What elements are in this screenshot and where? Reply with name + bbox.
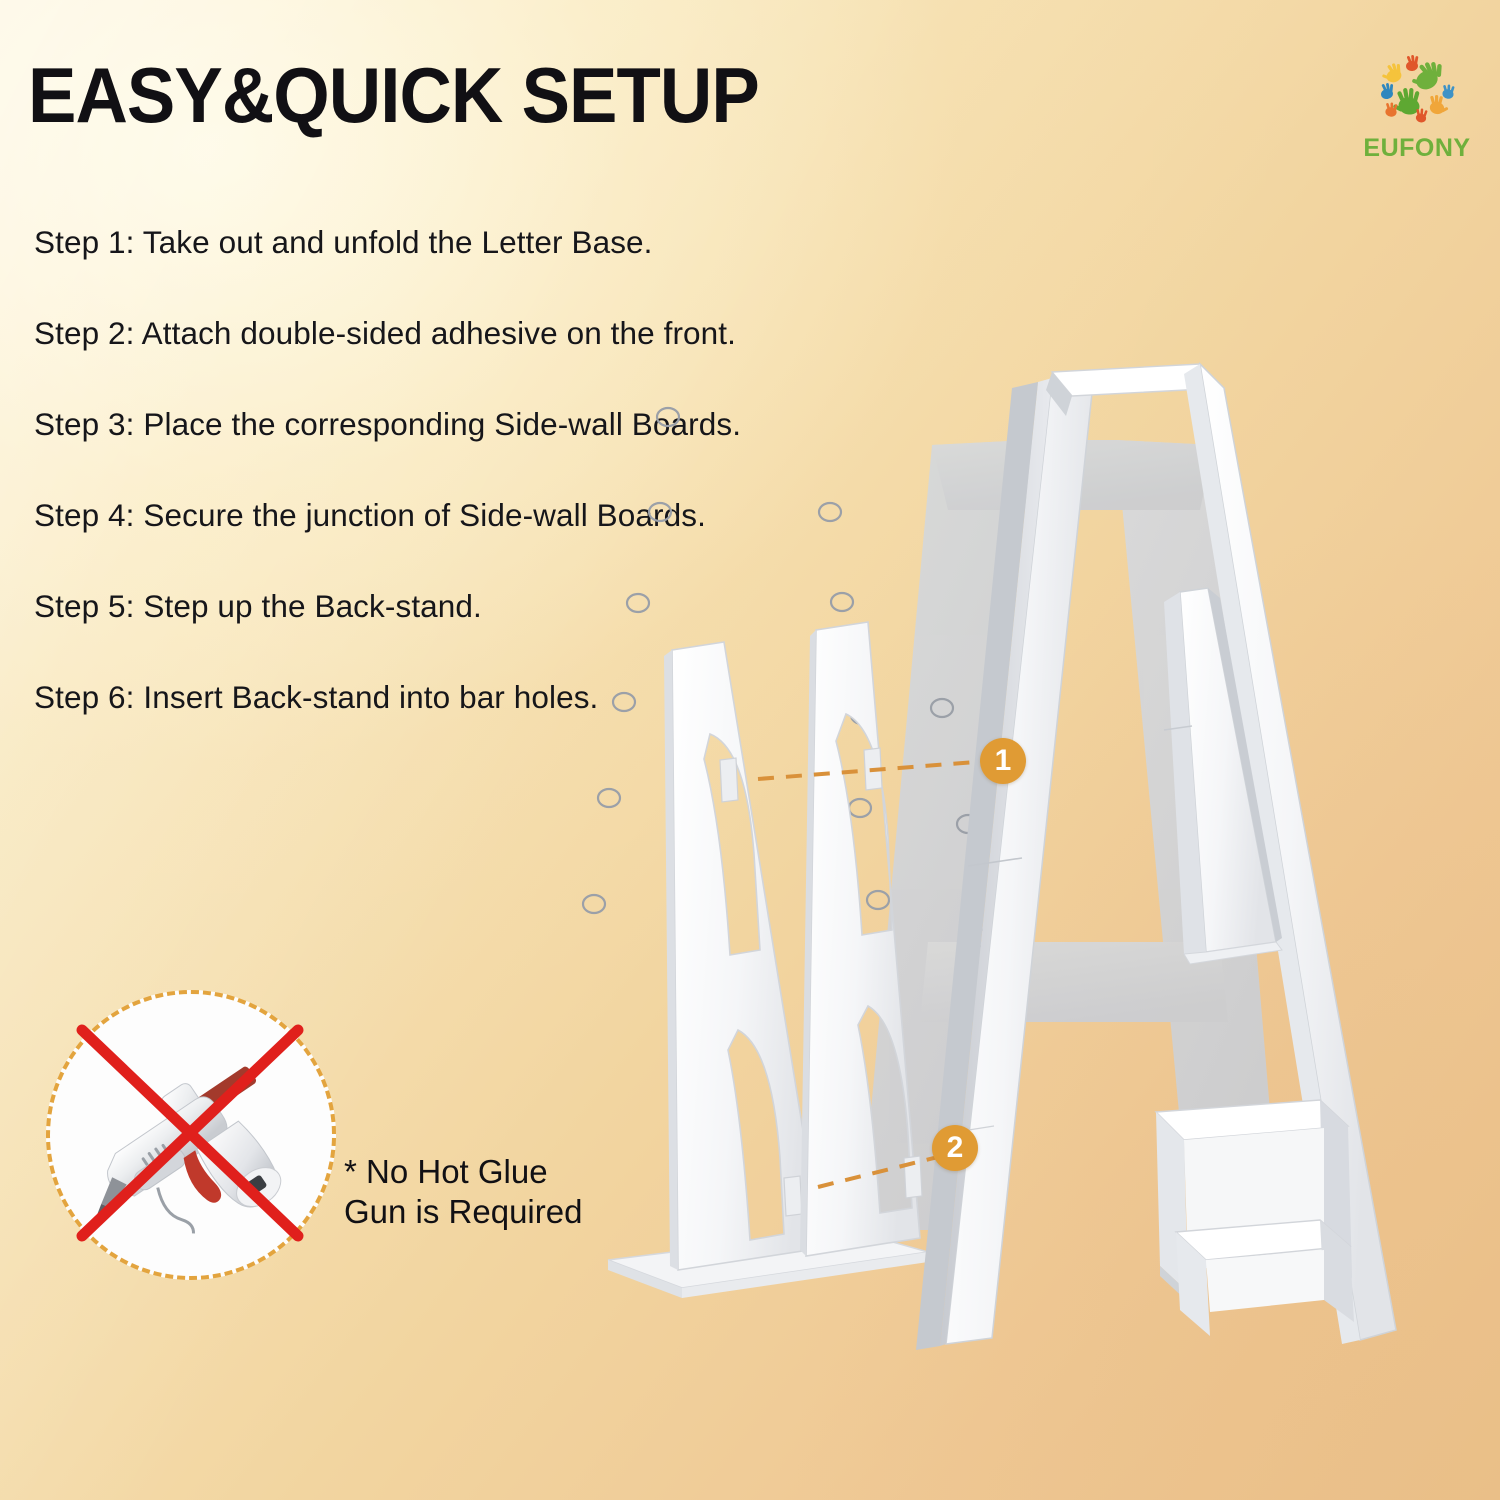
lower-foot-piece (1176, 1220, 1354, 1336)
callout-marker-1[interactable]: 1 (980, 738, 1026, 784)
brand-logo: EUFONY (1352, 50, 1482, 175)
hot-glue-gun-prohibited-icon (56, 1000, 326, 1270)
brand-name-label: EUFONY (1363, 134, 1470, 163)
no-hot-glue-gun-badge: * No Hot Glue Gun is Required (46, 990, 606, 1290)
side-wall-board-left (664, 642, 822, 1270)
step-item-1: Step 1: Take out and unfold the Letter B… (34, 222, 774, 263)
page-title: EASY&QUICK SETUP (28, 50, 759, 141)
handprints-circle-logo-icon (1365, 50, 1469, 132)
assembly-diagram-svg (560, 330, 1500, 1390)
letter-a-assembly-illustration (560, 330, 1500, 1390)
callout-marker-2[interactable]: 2 (932, 1125, 978, 1171)
